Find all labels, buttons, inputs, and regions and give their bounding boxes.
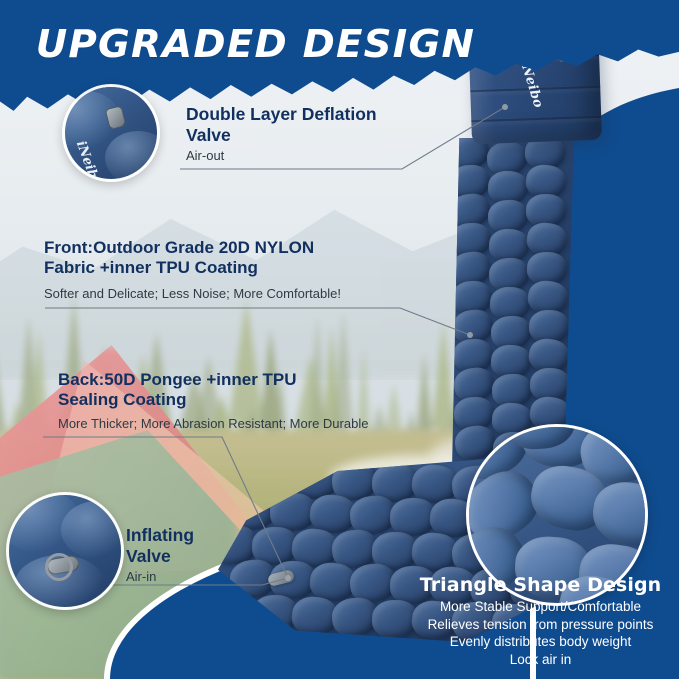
page-title: UPGRADED DESIGN bbox=[36, 22, 475, 66]
triangle-bullet-2: Relieves tension from pressure points bbox=[402, 616, 679, 634]
triangle-bullet-1: More Stable Support/Comfortable bbox=[402, 598, 679, 616]
callout-sub-front-fabric: Softer and Delicate; Less Noise; More Co… bbox=[44, 286, 341, 301]
infographic-canvas: iNeibo UPGRADED DESIGN iNeibo Double Lay… bbox=[0, 0, 679, 679]
callout-title-line2: Valve bbox=[186, 125, 231, 145]
triangle-bullet-3: Evenly distributes body weight bbox=[402, 633, 679, 651]
callout-sub-back-fabric: More Thicker; More Abrasion Resistant; M… bbox=[58, 416, 368, 431]
inflating-valve-ring-icon bbox=[45, 553, 73, 581]
callout-title-inflating-valve: Inflating Valve bbox=[126, 525, 194, 566]
callout-title-line1: Front:Outdoor Grade 20D NYLON bbox=[44, 238, 314, 257]
triangle-shape-design-block: Triangle Shape Design More Stable Suppor… bbox=[402, 574, 679, 668]
callout-sub-deflation-valve: Air-out bbox=[186, 148, 224, 163]
triangle-design-title: Triangle Shape Design bbox=[402, 574, 679, 596]
callout-title-back-fabric: Back:50D Pongee +inner TPU Sealing Coati… bbox=[58, 370, 408, 410]
callout-title-line1: Inflating bbox=[126, 525, 194, 545]
callout-title-line2: Fabric +inner TPU Coating bbox=[44, 258, 258, 277]
callout-title-line2: Sealing Coating bbox=[58, 390, 186, 409]
callout-title-line2: Valve bbox=[126, 546, 171, 566]
triangle-bullet-4: Lock air in bbox=[402, 651, 679, 669]
callout-sub-inflating-valve: Air-in bbox=[126, 569, 156, 584]
callout-title-front-fabric: Front:Outdoor Grade 20D NYLON Fabric +in… bbox=[44, 238, 414, 278]
callout-title-line1: Double Layer Deflation bbox=[186, 104, 377, 124]
callout-title-deflation-valve: Double Layer Deflation Valve bbox=[186, 104, 456, 145]
inflating-valve-zoom-inset bbox=[6, 492, 124, 610]
callout-title-line1: Back:50D Pongee +inner TPU bbox=[58, 370, 297, 389]
deflation-valve-zoom-inset: iNeibo bbox=[62, 84, 160, 182]
